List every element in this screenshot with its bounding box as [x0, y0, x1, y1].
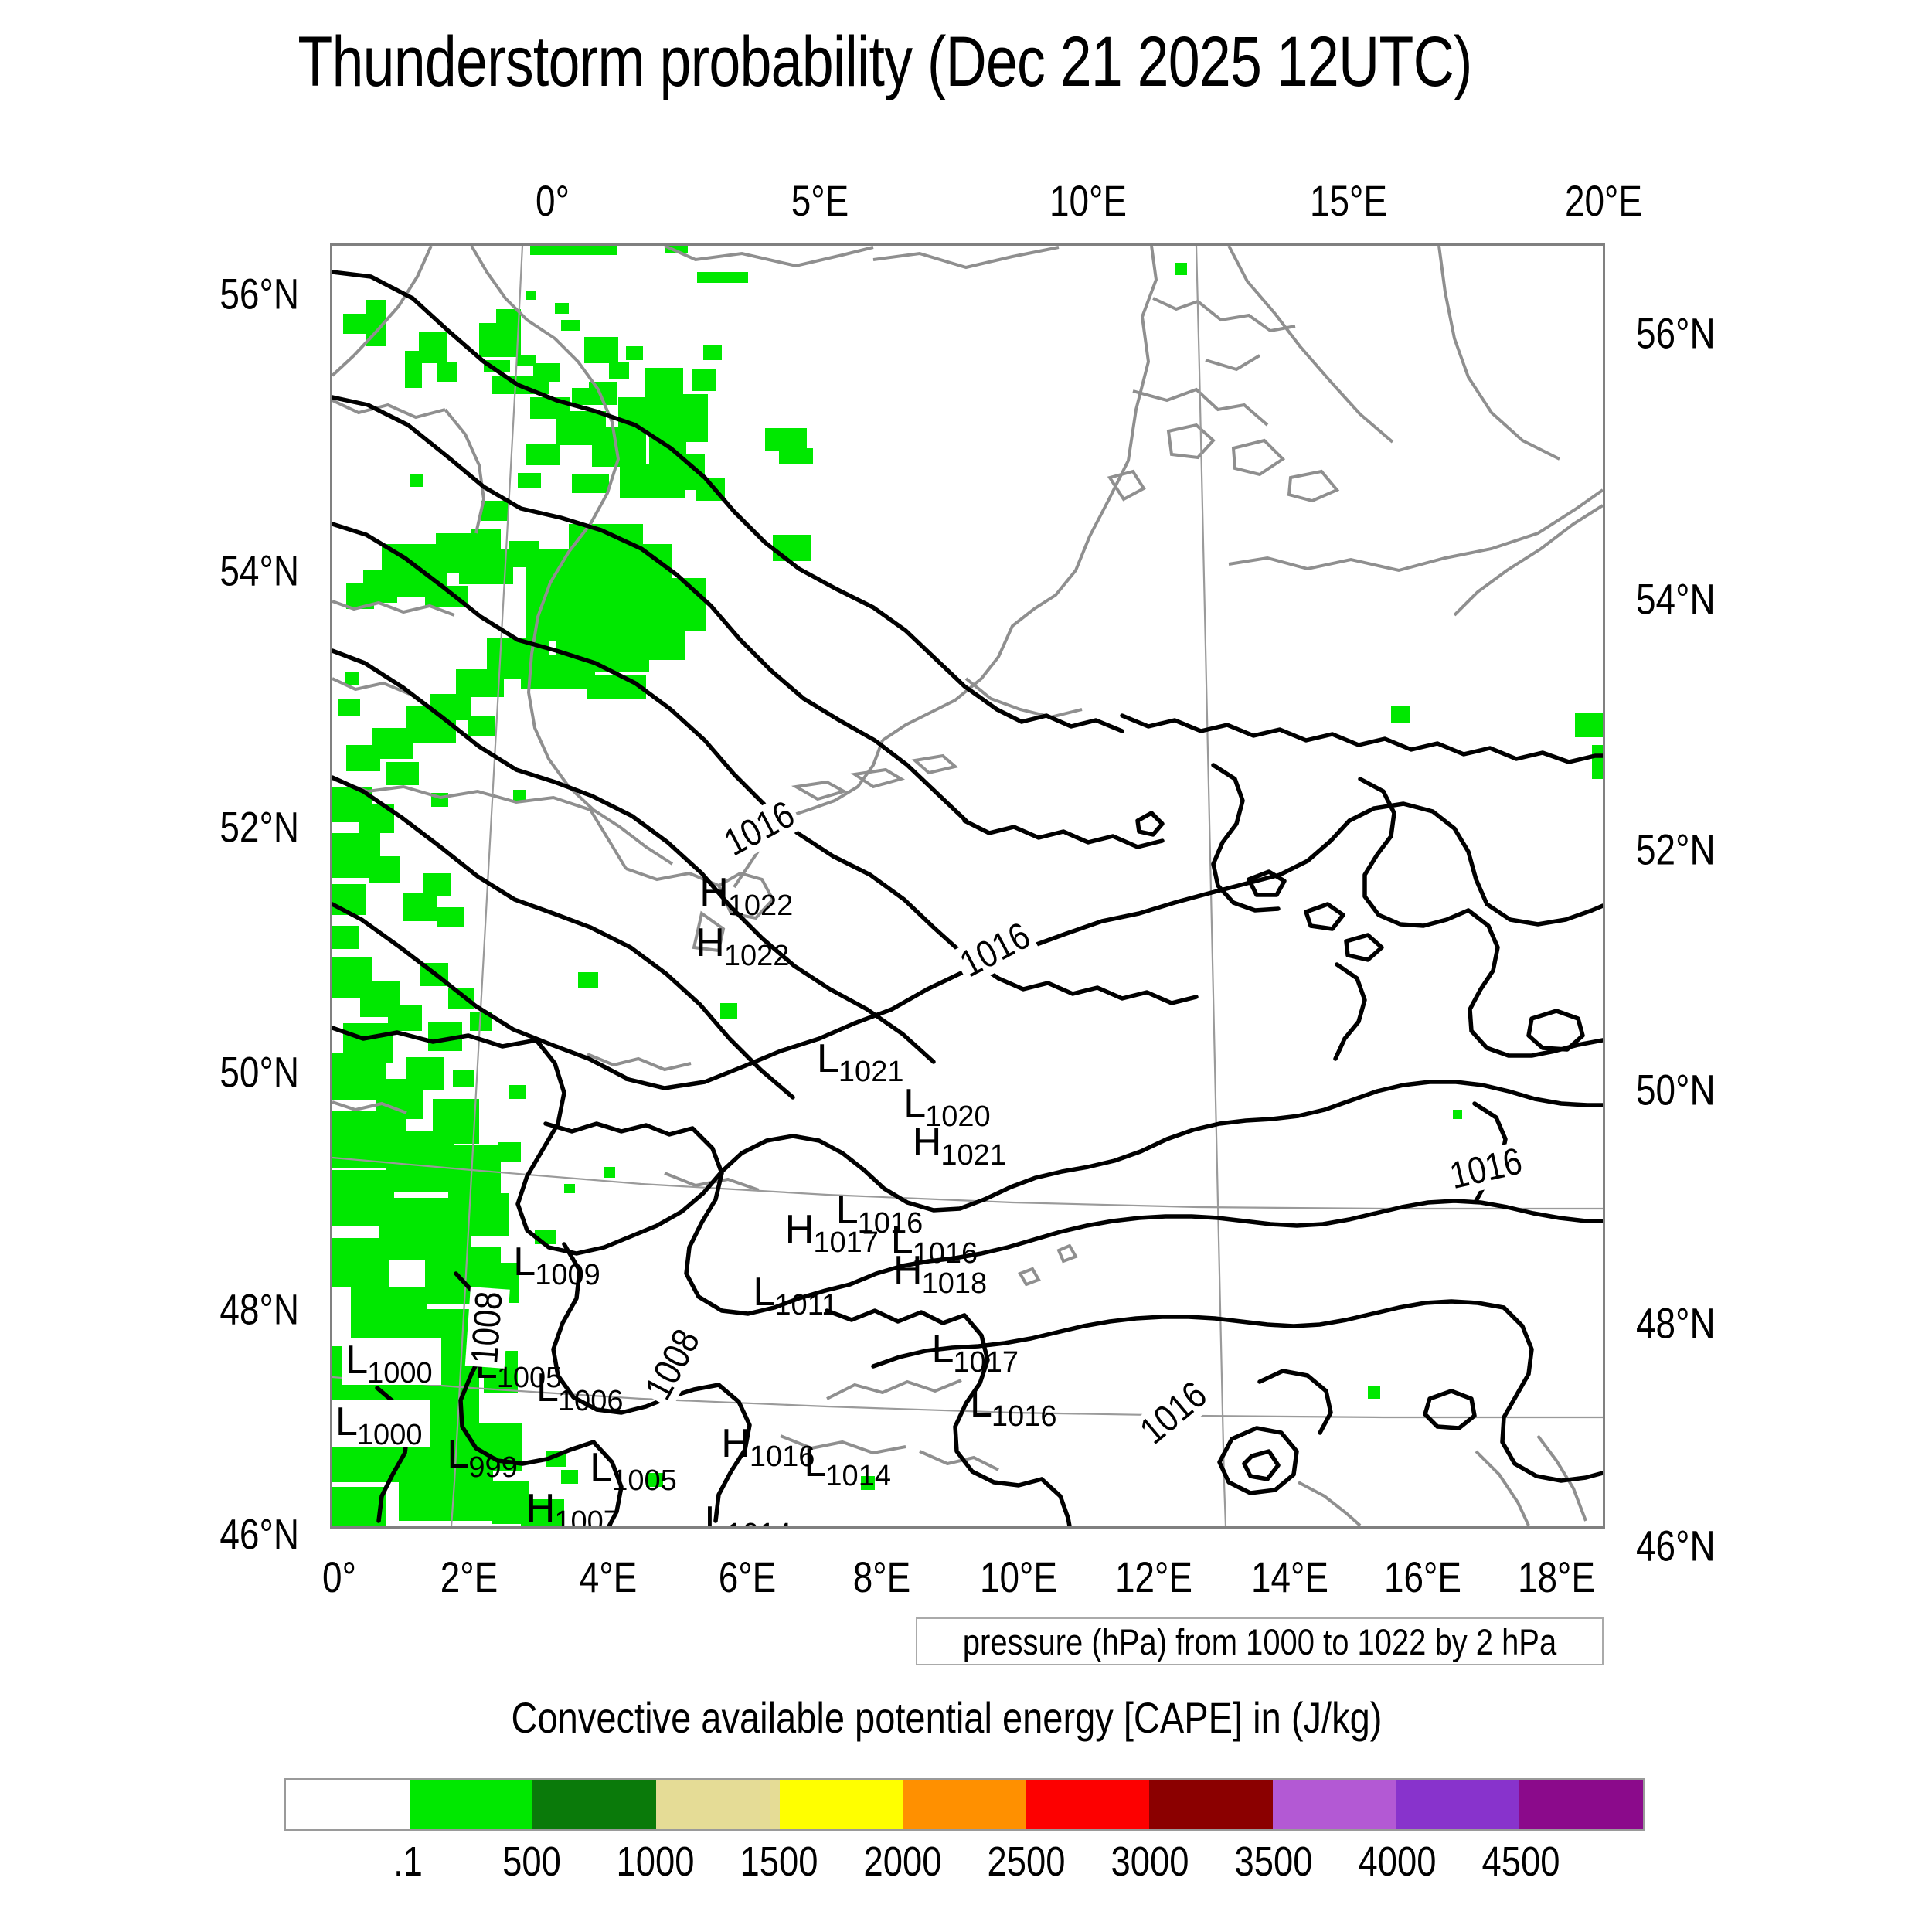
colorbar-tick: 2000: [864, 1838, 942, 1886]
pressure-marker: L1009: [513, 1242, 600, 1282]
colorbar-swatch[interactable]: [1396, 1780, 1520, 1829]
colorbar-swatch[interactable]: [1149, 1780, 1273, 1829]
pressure-legend-text: pressure (hPa) from 1000 to 1022 by 2 hP…: [963, 1621, 1556, 1663]
colorbar-tick: .1: [393, 1838, 423, 1886]
page-title: Thunderstorm probability (Dec 21 2025 12…: [177, 22, 1593, 103]
axis-left-tick: 50°N: [219, 1047, 299, 1097]
pressure-marker-type: L: [335, 1400, 358, 1444]
pressure-marker: H1018: [893, 1250, 988, 1291]
pressure-marker: L1014: [705, 1501, 792, 1529]
contour-label: 1008: [465, 1287, 510, 1369]
pressure-marker-type: H: [696, 920, 725, 965]
pressure-marker-type: H: [785, 1207, 815, 1252]
colorbar-tick: 4000: [1359, 1838, 1437, 1886]
pressure-marker: L1021: [817, 1039, 904, 1079]
pressure-marker-type: L: [590, 1445, 612, 1490]
pressure-marker-value: 1017: [953, 1346, 1019, 1379]
colorbar-tick: 1000: [617, 1838, 695, 1886]
pressure-marker-value: 1021: [838, 1056, 904, 1088]
axis-right-tick: 52°N: [1636, 825, 1716, 875]
pressure-marker-type: L: [932, 1327, 954, 1372]
axis-bottom-tick: 14°E: [1251, 1552, 1328, 1602]
axis-bottom-tick: 0°: [322, 1552, 356, 1602]
pressure-marker-type: H: [893, 1248, 923, 1293]
colorbar-tick: 2500: [988, 1838, 1066, 1886]
axis-top-tick: 0°: [536, 175, 570, 226]
pressure-marker-value: 1005: [611, 1464, 677, 1497]
pressure-marker-type: L: [753, 1270, 776, 1315]
colorbar-tick: 3500: [1235, 1838, 1313, 1886]
pressure-marker-value: 999: [468, 1451, 517, 1484]
colorbar-swatch[interactable]: [780, 1780, 903, 1829]
pressure-marker: H1021: [913, 1122, 1007, 1162]
axis-bottom-tick: 4°E: [579, 1552, 637, 1602]
pressure-marker: L1006: [536, 1368, 624, 1408]
pressure-marker-value: 1014: [726, 1518, 792, 1529]
pressure-marker: L1011: [753, 1272, 839, 1312]
axis-right-tick: 48°N: [1636, 1298, 1716, 1349]
pressure-marker: H1007: [526, 1488, 621, 1529]
pressure-marker-value: 1009: [535, 1259, 600, 1291]
pressure-marker-type: H: [699, 870, 729, 915]
axis-top-tick: 5°E: [791, 175, 849, 226]
pressure-marker-value: 1007: [554, 1505, 620, 1529]
colorbar-tick: 1500: [740, 1838, 818, 1886]
colorbar-tick: 4500: [1482, 1838, 1560, 1886]
axis-top-tick: 10°E: [1049, 175, 1127, 226]
axis-left-tick: 56°N: [219, 268, 299, 318]
colorbar-tick: 3000: [1111, 1838, 1189, 1886]
colorbar-swatch[interactable]: [903, 1780, 1026, 1829]
pressure-marker: H1016: [721, 1423, 815, 1464]
axis-left-tick: 52°N: [219, 801, 299, 852]
colorbar-swatch[interactable]: [1519, 1780, 1643, 1829]
pressure-marker-value: 1011: [774, 1289, 838, 1321]
pressure-marker-value: 1017: [813, 1226, 879, 1259]
axis-right-tick: 50°N: [1636, 1064, 1716, 1114]
pressure-marker: L999: [447, 1434, 519, 1475]
axis-right-tick: 46°N: [1636, 1521, 1716, 1571]
colorbar-swatch[interactable]: [1273, 1780, 1396, 1829]
colorbar-swatch[interactable]: [286, 1780, 410, 1829]
pressure-marker-value: 1018: [922, 1267, 988, 1300]
axis-left-tick: 46°N: [219, 1509, 299, 1560]
pressure-marker-type: L: [345, 1338, 368, 1383]
axis-right-tick: 56°N: [1636, 308, 1716, 359]
pressure-marker-value: 1022: [728, 889, 794, 922]
colorbar-swatch[interactable]: [656, 1780, 780, 1829]
pressure-marker: L1000: [342, 1338, 440, 1385]
pressure-marker-type: L: [447, 1432, 470, 1477]
pressure-marker: L1017: [932, 1329, 1019, 1369]
colorbar-swatch[interactable]: [1026, 1780, 1150, 1829]
pressure-marker: L1016: [970, 1383, 1057, 1423]
colorbar-swatch[interactable]: [532, 1780, 656, 1829]
pressure-marker: L1005: [590, 1447, 677, 1488]
pressure-marker-value: 1000: [357, 1419, 423, 1451]
pressure-marker-value: 1014: [825, 1460, 891, 1492]
axis-bottom-tick: 6°E: [718, 1552, 776, 1602]
pressure-marker-type: L: [817, 1036, 839, 1081]
axis-top-tick: 20°E: [1564, 175, 1641, 226]
pressure-marker-value: 1000: [367, 1357, 433, 1389]
pressure-marker-type: L: [705, 1498, 727, 1529]
pressure-marker-type: H: [721, 1421, 750, 1466]
pressure-marker-value: 1016: [992, 1400, 1057, 1433]
pressure-marker-value: 1021: [940, 1139, 1006, 1172]
axis-bottom-tick: 2°E: [440, 1552, 498, 1602]
axis-bottom-tick: 12°E: [1115, 1552, 1192, 1602]
pressure-marker-type: L: [513, 1240, 536, 1284]
pressure-marker: H1017: [785, 1209, 879, 1250]
pressure-marker-type: H: [913, 1120, 942, 1165]
axis-right-tick: 54°N: [1636, 573, 1716, 624]
pressure-marker: H1022: [696, 923, 790, 963]
pressure-marker-type: L: [804, 1440, 827, 1485]
axis-bottom-tick: 8°E: [853, 1552, 911, 1602]
axis-bottom-tick: 16°E: [1384, 1552, 1461, 1602]
pressure-legend-box: pressure (hPa) from 1000 to 1022 by 2 hP…: [916, 1617, 1604, 1665]
colorbar[interactable]: [284, 1778, 1645, 1831]
pressure-marker-type: L: [536, 1366, 559, 1410]
axis-bottom-tick: 10°E: [980, 1552, 1057, 1602]
pressure-marker: L1000: [332, 1400, 430, 1447]
colorbar-swatch[interactable]: [410, 1780, 533, 1829]
axis-bottom-tick: 18°E: [1518, 1552, 1595, 1602]
pressure-marker: H1022: [699, 872, 794, 913]
colorbar-tick-labels: .150010001500200025003000350040004500: [284, 1838, 1645, 1892]
map-plot-area[interactable]: H1022H1022L1021L1020H1021L1016H1017L1016…: [330, 243, 1605, 1529]
pressure-marker: L1014: [804, 1443, 892, 1483]
colorbar-title: Convective available potential energy [C…: [151, 1692, 1742, 1743]
pressure-marker-value: 1022: [724, 940, 790, 972]
pressure-marker: L1020: [903, 1083, 991, 1124]
pressure-marker-type: H: [526, 1486, 556, 1529]
axis-top-tick: 15°E: [1309, 175, 1386, 226]
pressure-marker-value: 1006: [558, 1385, 624, 1417]
axis-left-tick: 48°N: [219, 1284, 299, 1334]
axis-left-tick: 54°N: [219, 545, 299, 595]
colorbar-tick: 500: [502, 1838, 561, 1886]
pressure-marker-type: L: [970, 1381, 992, 1426]
